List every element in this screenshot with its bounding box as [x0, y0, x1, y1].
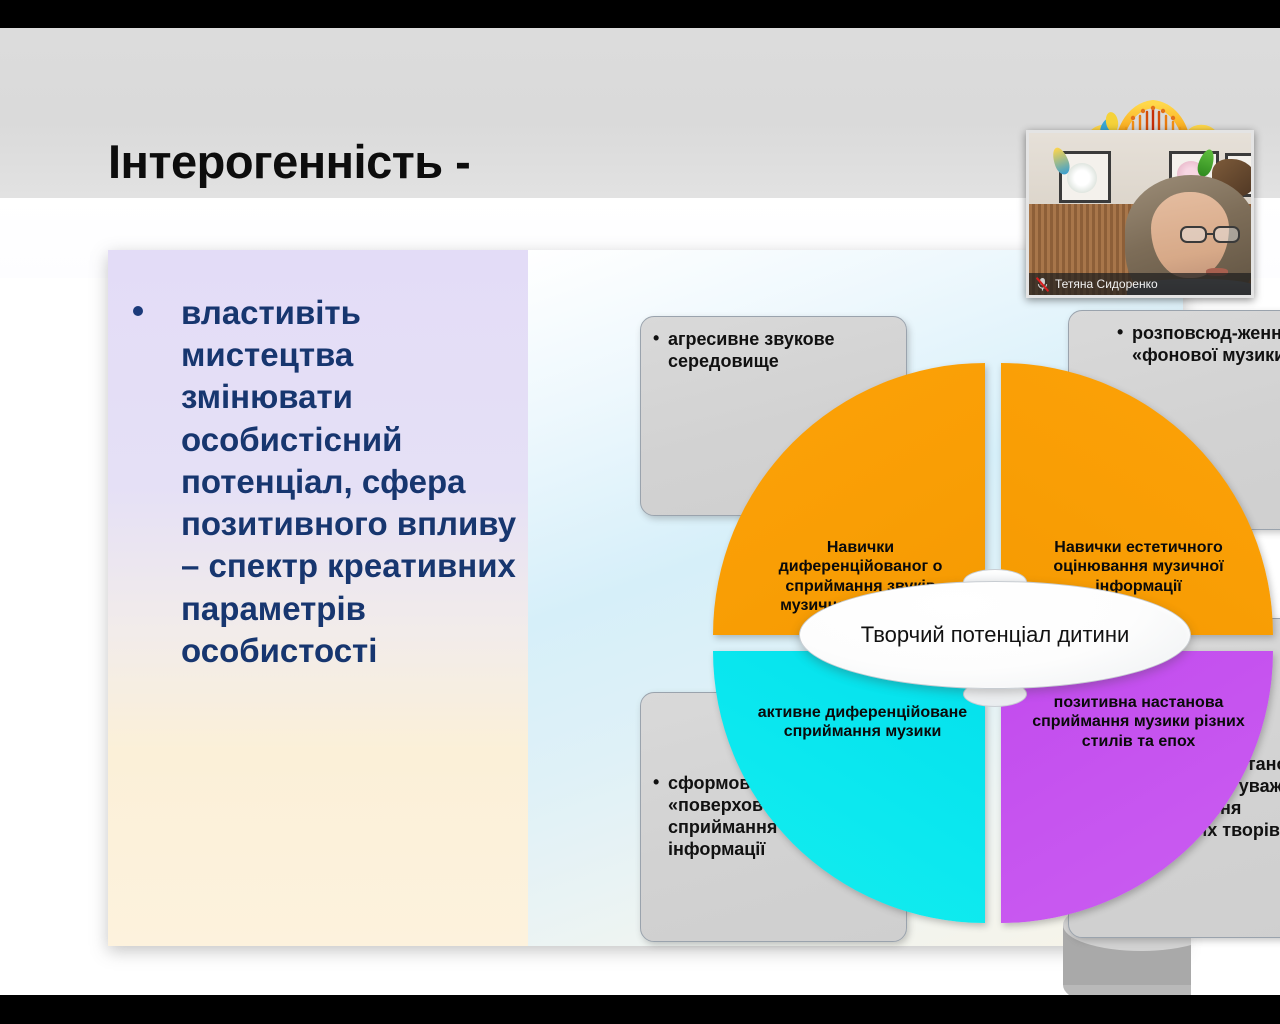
eyeglass-lens-right — [1213, 226, 1240, 243]
center-ellipse-label: Творчий потенціал дитини — [855, 622, 1135, 648]
microphone-muted-icon[interactable] — [1036, 277, 1049, 292]
eyeglass-bridge — [1207, 233, 1215, 235]
page-title: Інтерогенність - — [108, 134, 470, 189]
quadrant-bottom-left[interactable] — [713, 651, 985, 923]
participant-name: Тетяна Сидоренко — [1055, 277, 1158, 291]
quadrant-circle: Навички диференційованог о сприймання зв… — [713, 363, 1273, 923]
slide-viewer: Інтерогенність - — [0, 0, 1280, 1024]
bullet-paragraph: властивіть мистецтва змінювати особистіс… — [133, 292, 533, 672]
quadrant-bottom-right-label: позитивна настанова сприймання музики рі… — [1031, 693, 1246, 751]
eyeglass-lens-left — [1180, 226, 1207, 243]
callout-list: розповсюд-ження «фонової музики», — [1117, 323, 1280, 367]
flower-decoration — [1067, 163, 1097, 193]
quadrant-bottom-right[interactable] — [1001, 651, 1273, 923]
letterbox-bottom — [0, 995, 1280, 1024]
center-ellipse[interactable]: Творчий потенціал дитини — [799, 581, 1191, 689]
quadrant-bottom-left-label: активне диференційоване сприймання музик… — [755, 703, 970, 742]
bullet-marker-dot — [133, 306, 143, 316]
video-participant-tile[interactable]: Тетяна Сидоренко — [1026, 130, 1254, 298]
video-feed — [1029, 133, 1251, 295]
participant-name-bar: Тетяна Сидоренко — [1029, 273, 1251, 295]
presentation-slide: Інтерогенність - — [0, 28, 1280, 995]
content-panel: властивіть мистецтва змінювати особистіс… — [108, 250, 1183, 946]
letterbox-top — [0, 0, 1280, 28]
callout-top-right-text: розповсюд-ження «фонової музики», — [1117, 323, 1280, 367]
smartart-diagram: агресивне звукове середовище розповсюд-ж… — [528, 268, 1183, 928]
bullet-text: властивіть мистецтва змінювати особистіс… — [181, 292, 533, 672]
